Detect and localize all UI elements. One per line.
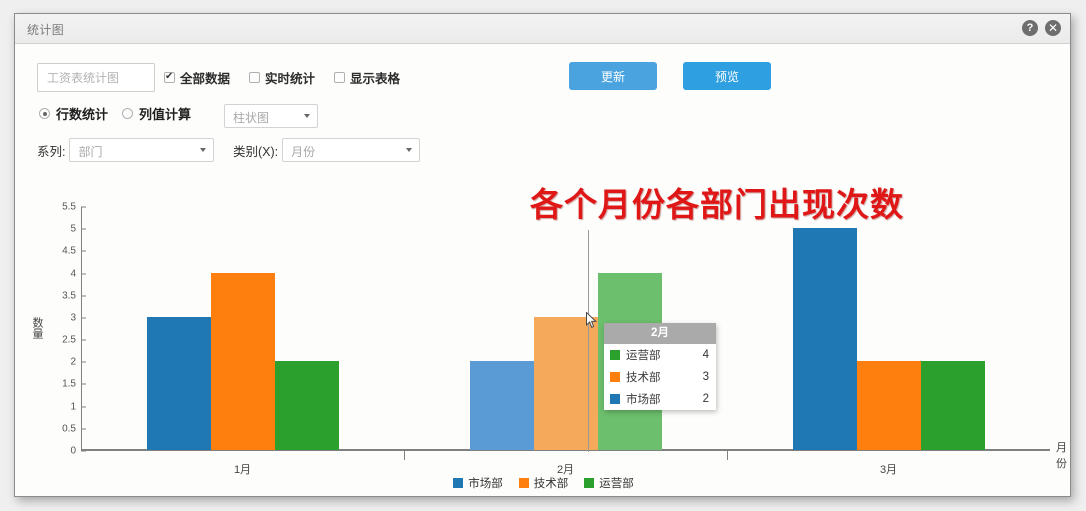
help-icon[interactable]: ? bbox=[1022, 20, 1038, 36]
chart-bar[interactable] bbox=[147, 317, 211, 450]
tooltip-series-name: 运营部 bbox=[626, 347, 703, 363]
chart-bar[interactable] bbox=[275, 361, 339, 450]
x-axis-tick-mark bbox=[404, 451, 405, 460]
y-axis-tick-mark bbox=[81, 229, 86, 230]
legend-swatch bbox=[453, 478, 463, 488]
tooltip-row: 技术部3 bbox=[604, 366, 716, 388]
dialog-titlebar: 统计图 ? ✕ bbox=[15, 14, 1070, 44]
legend-item[interactable]: 技术部 bbox=[519, 475, 569, 491]
y-axis-tick-mark bbox=[81, 295, 86, 296]
y-axis-tick-mark bbox=[81, 362, 86, 363]
tooltip-series-name: 技术部 bbox=[626, 369, 703, 385]
tooltip-series-value: 4 bbox=[703, 349, 709, 361]
chart-plot: 数量 月份 00.511.522.533.544.555.51月2月3月 bbox=[81, 207, 1050, 451]
y-axis-tick-mark bbox=[81, 406, 86, 407]
chart-bar[interactable] bbox=[211, 273, 275, 450]
legend-label: 运营部 bbox=[599, 475, 634, 491]
tooltip-series-value: 3 bbox=[703, 371, 709, 383]
tooltip-swatch bbox=[610, 350, 620, 360]
page-root: 统计图 ? ✕ 全部数据 实时统计 bbox=[0, 0, 1086, 511]
y-axis-line bbox=[81, 207, 82, 451]
chart-area: 各个月份各部门出现次数 数量 月份 00.511.522.533.544.555… bbox=[15, 44, 1070, 496]
legend-swatch bbox=[584, 478, 594, 488]
tooltip-series-name: 市场部 bbox=[626, 391, 703, 407]
close-icon[interactable]: ✕ bbox=[1045, 20, 1061, 36]
y-axis-tick-label: 3.5 bbox=[62, 290, 76, 301]
y-axis-tick-label: 0 bbox=[70, 446, 76, 457]
y-axis-tick-label: 2 bbox=[70, 357, 76, 368]
chart-bar[interactable] bbox=[921, 361, 985, 450]
dialog-title: 统计图 bbox=[27, 21, 64, 38]
y-axis-tick-label: 4.5 bbox=[62, 246, 76, 257]
chart-legend: 市场部技术部运营部 bbox=[15, 475, 1072, 491]
x-axis-tick-mark bbox=[727, 451, 728, 460]
hover-crosshair-line bbox=[588, 230, 589, 452]
y-axis-tick-mark bbox=[81, 207, 86, 208]
legend-label: 技术部 bbox=[534, 475, 569, 491]
y-axis-tick-mark bbox=[81, 384, 86, 385]
y-axis-tick-label: 0.5 bbox=[62, 423, 76, 434]
chart-bar[interactable] bbox=[857, 361, 921, 450]
y-axis-label: 数量 bbox=[29, 317, 45, 339]
y-axis-tick-label: 3 bbox=[70, 312, 76, 323]
dialog-body: 全部数据 实时统计 显示表格 更新 预览 bbox=[15, 44, 1070, 496]
x-axis-label: 月份 bbox=[1056, 439, 1067, 471]
y-axis-tick-mark bbox=[81, 273, 86, 274]
window-buttons: ? ✕ bbox=[1022, 20, 1061, 36]
tooltip-row: 运营部4 bbox=[604, 344, 716, 366]
mouse-cursor-icon bbox=[586, 312, 598, 329]
y-axis-tick-label: 4 bbox=[70, 268, 76, 279]
y-axis-tick-mark bbox=[81, 317, 86, 318]
tooltip-series-value: 2 bbox=[703, 393, 709, 405]
chart-bar[interactable] bbox=[793, 228, 857, 450]
chart-tooltip: 2月 运营部4技术部3市场部2 bbox=[604, 323, 716, 410]
chart-bar[interactable] bbox=[470, 361, 534, 450]
y-axis-tick-mark bbox=[81, 251, 86, 252]
tooltip-swatch bbox=[610, 394, 620, 404]
statistics-chart-dialog: 统计图 ? ✕ 全部数据 实时统计 bbox=[14, 13, 1071, 497]
y-axis-tick-mark bbox=[81, 428, 86, 429]
y-axis-tick-label: 1 bbox=[70, 401, 76, 412]
y-axis-tick-label: 1.5 bbox=[62, 379, 76, 390]
tooltip-rows: 运营部4技术部3市场部2 bbox=[604, 344, 716, 410]
y-axis-tick-label: 5 bbox=[70, 224, 76, 235]
legend-swatch bbox=[519, 478, 529, 488]
y-axis-tick-mark bbox=[81, 340, 86, 341]
tooltip-row: 市场部2 bbox=[604, 388, 716, 410]
tooltip-swatch bbox=[610, 372, 620, 382]
legend-item[interactable]: 运营部 bbox=[584, 475, 634, 491]
legend-item[interactable]: 市场部 bbox=[453, 475, 503, 491]
y-axis-tick-label: 5.5 bbox=[62, 202, 76, 213]
tooltip-header: 2月 bbox=[604, 323, 716, 344]
y-axis-tick-mark bbox=[81, 451, 86, 452]
legend-label: 市场部 bbox=[468, 475, 503, 491]
y-axis-tick-label: 2.5 bbox=[62, 335, 76, 346]
